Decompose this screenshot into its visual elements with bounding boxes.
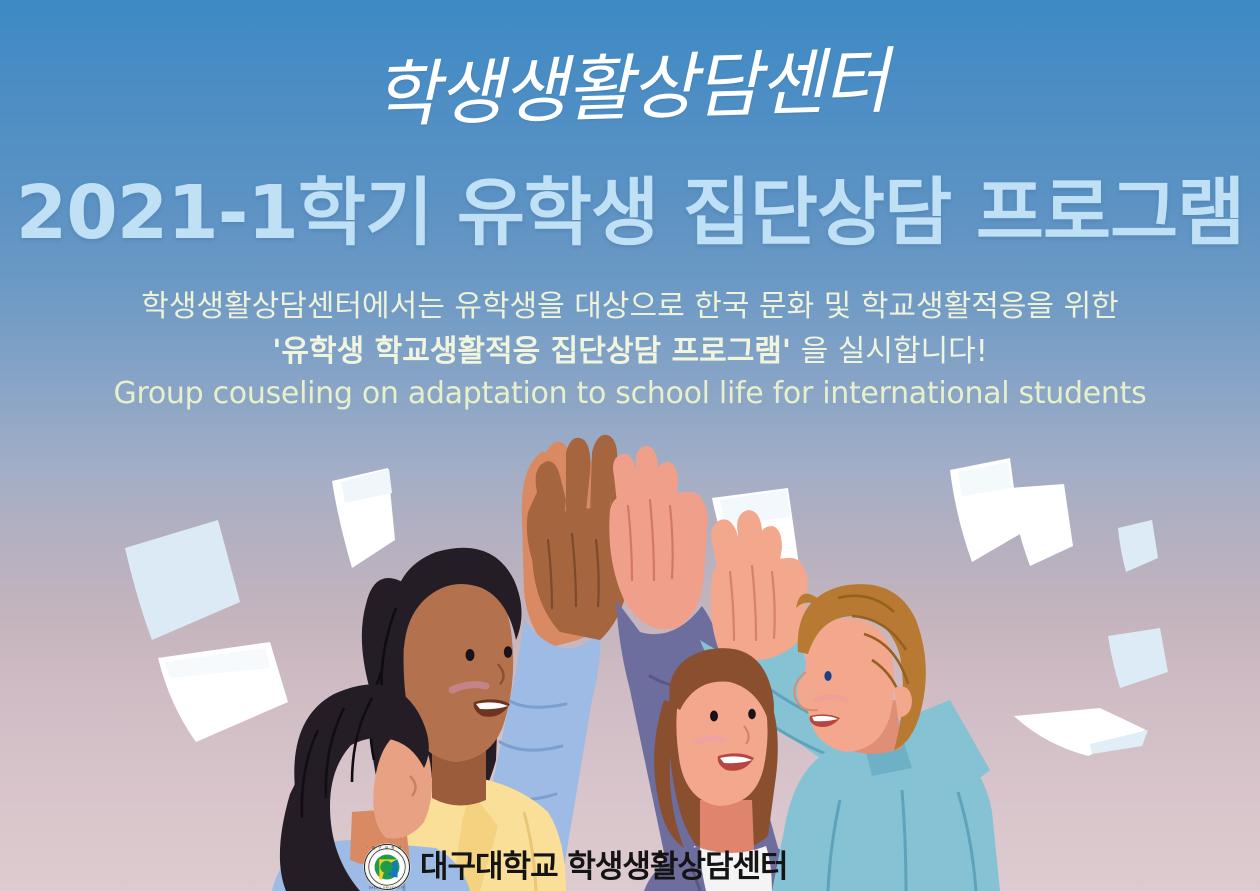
- description-line-3-english: Group couseling on adaptation to school …: [0, 379, 1260, 409]
- program-name-quoted: '유학생 학교생활적응 집단상담 프로그램': [272, 334, 791, 369]
- footer-branding: · 대 구 대 학 교 · DAEGU UNIVERSITY 대구대학교 학생생…: [363, 843, 788, 891]
- description-line-1: 학생생활상담센터에서는 유학생을 대상으로 한국 문화 및 학교생활적응을 위한: [0, 292, 1260, 322]
- page-title: 2021-1학기 유학생 집단상담 프로그램: [0, 176, 1260, 250]
- svg-text:· 대 구 대 학 교 ·: · 대 구 대 학 교 ·: [367, 845, 407, 850]
- footer-organization-name: 대구대학교 학생생활상담센터: [420, 852, 788, 883]
- daegu-university-logo-icon: · 대 구 대 학 교 · DAEGU UNIVERSITY: [363, 843, 411, 891]
- description-line-2: '유학생 학교생활적응 집단상담 프로그램' 을 실시합니다!: [0, 337, 1260, 367]
- program-name-tail: 을 실시합니다!: [791, 334, 988, 369]
- svg-text:DAEGU UNIVERSITY: DAEGU UNIVERSITY: [369, 886, 406, 890]
- paper-sheet-group-mid: [950, 458, 1168, 756]
- poster-canvas: 학생생활상담센터 2021-1학기 유학생 집단상담 프로그램 학생생활상담센터…: [0, 0, 1260, 891]
